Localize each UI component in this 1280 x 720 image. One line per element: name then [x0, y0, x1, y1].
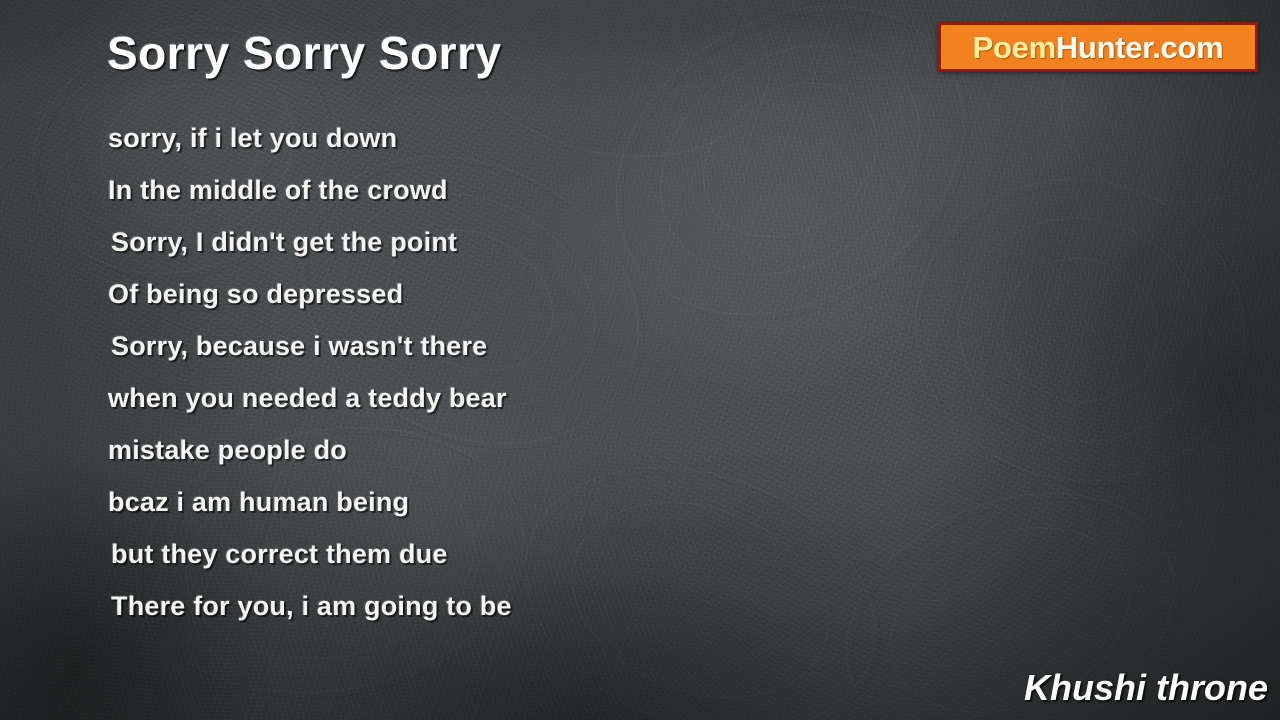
poem-line: Sorry, because i wasn't there	[0, 320, 900, 372]
brand-name-part-two: Hunter.com	[1056, 30, 1224, 65]
brand-wordmark: PoemHunter.com	[973, 32, 1224, 63]
poem-line: There for you, i am going to be	[0, 580, 900, 632]
poem-line: mistake people do	[0, 424, 900, 476]
poem-line: when you needed a teddy bear	[0, 372, 900, 424]
card-content: Sorry Sorry Sorry sorry, if i let you do…	[0, 0, 1280, 720]
poem-line: In the middle of the crowd	[0, 164, 900, 216]
poem-line: Of being so depressed	[0, 268, 900, 320]
brand-logo[interactable]: PoemHunter.com	[938, 22, 1258, 72]
poem-body: sorry, if i let you downIn the middle of…	[0, 112, 900, 632]
page-title: Sorry Sorry Sorry	[107, 26, 502, 80]
brand-name-part-one: Poem	[973, 30, 1056, 65]
poem-line: but they correct them due	[0, 528, 900, 580]
poem-line: sorry, if i let you down	[0, 112, 900, 164]
poem-card: Sorry Sorry Sorry sorry, if i let you do…	[0, 0, 1280, 720]
poem-author: Khushi throne	[1024, 667, 1268, 709]
poem-line: bcaz i am human being	[0, 476, 900, 528]
poem-line: Sorry, I didn't get the point	[0, 216, 900, 268]
